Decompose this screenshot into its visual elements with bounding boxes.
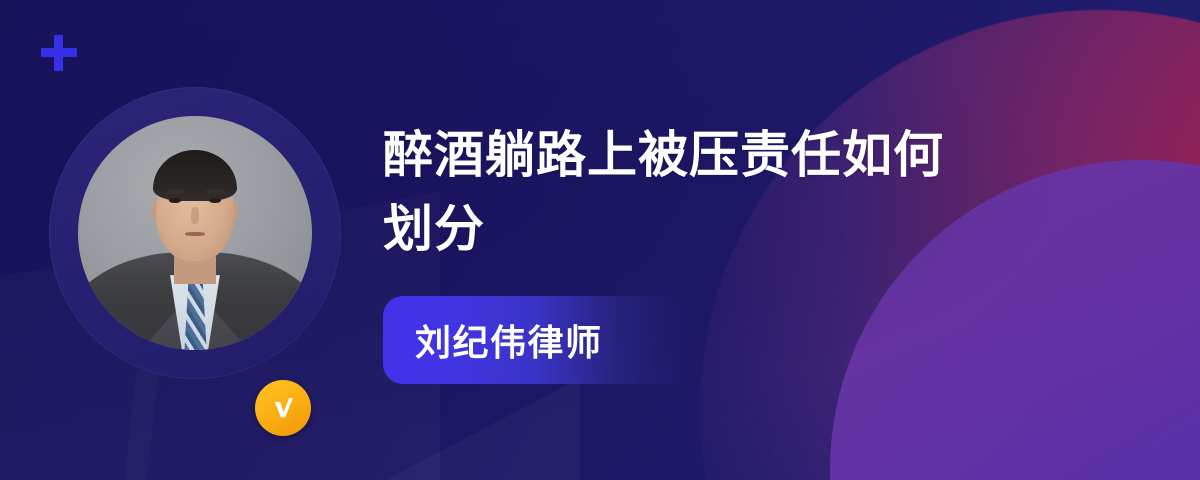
banner-content: 醉酒躺路上被压责任如何 划分 刘纪伟律师	[383, 118, 1143, 266]
lawyer-portrait-photo	[78, 116, 312, 350]
lawyer-name-badge[interactable]: 刘纪伟律师	[383, 296, 717, 384]
lawyer-article-banner: 醉酒躺路上被压责任如何 划分 刘纪伟律师	[0, 0, 1200, 480]
lawyer-name-label: 刘纪伟律师	[415, 314, 603, 366]
avatar	[49, 87, 341, 379]
plus-icon	[41, 35, 77, 71]
verified-check-icon	[255, 380, 311, 436]
page-title: 醉酒躺路上被压责任如何 划分	[383, 118, 1143, 266]
diagonal-slab-decoration-bottom	[160, 378, 580, 480]
portrait-eye-left	[169, 198, 182, 203]
portrait-nose	[191, 207, 198, 223]
portrait-mouth	[185, 232, 205, 236]
portrait-eye-right	[209, 198, 222, 203]
